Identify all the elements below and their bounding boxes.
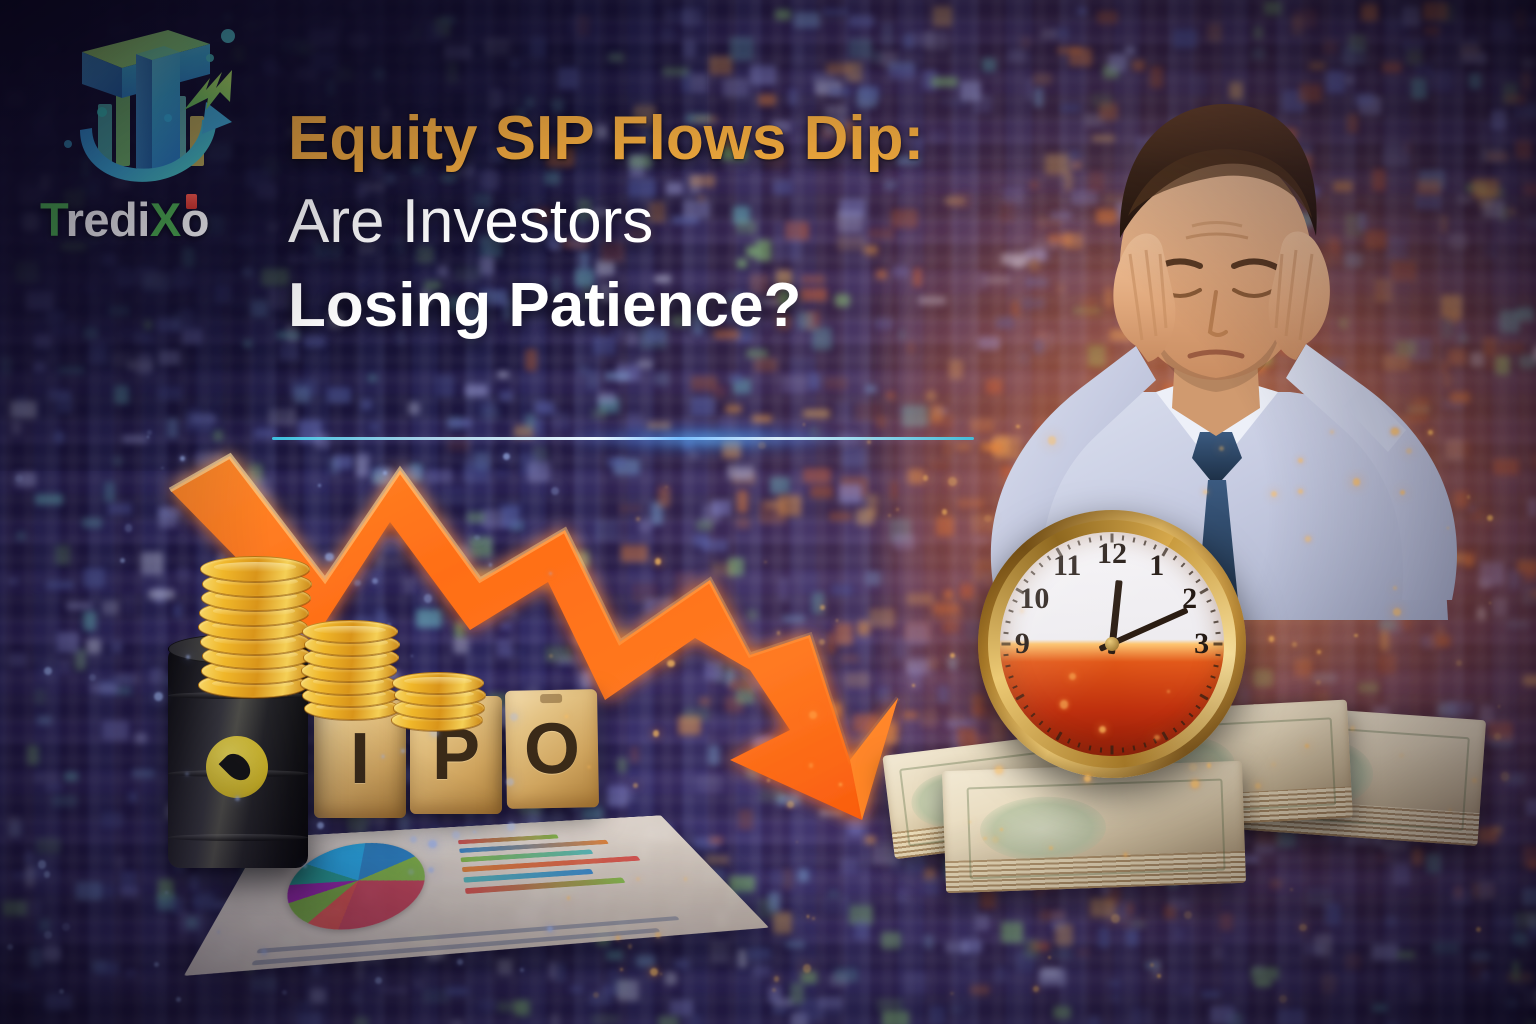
gold-coin <box>302 620 398 643</box>
banner-root: I P O <box>0 0 1536 1024</box>
gold-coin <box>392 672 484 694</box>
gold-coin <box>200 556 310 582</box>
background-vignette <box>0 0 1536 1024</box>
